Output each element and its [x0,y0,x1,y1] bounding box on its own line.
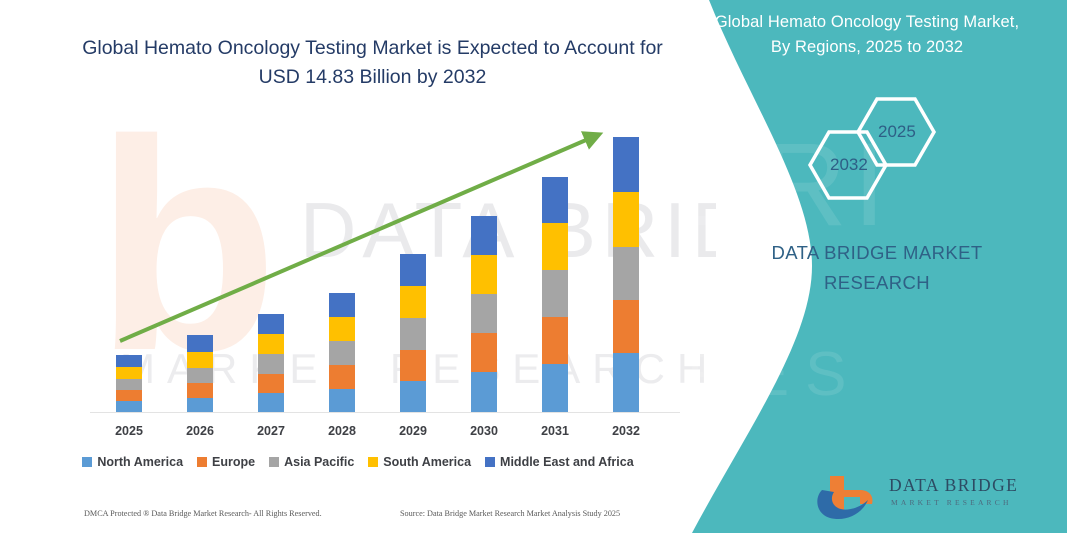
brand-panel-content: Global Hemato Oncology Testing Market, B… [687,0,1067,533]
brand-name: DATA BRIDGE MARKET RESEARCH [717,238,1037,298]
brand-name-line-2: RESEARCH [717,268,1037,298]
hex-label-2032: 2032 [830,155,868,175]
hexagon-badges: 2025 2032 [782,95,972,205]
dbmr-logo-name: DATA BRIDGE [889,475,1018,496]
legend-item[interactable]: Middle East and Africa [485,455,634,469]
brand-name-line-1: DATA BRIDGE MARKET [717,238,1037,268]
legend-label: Asia Pacific [284,455,354,469]
x-axis-labels: 20252026202720282029203020312032 [0,424,716,444]
x-axis-label-2027: 2027 [241,424,301,438]
footer: DMCA Protected ® Data Bridge Market Rese… [0,505,716,525]
x-axis-line [90,412,680,413]
panel-title: Global Hemato Oncology Testing Market, B… [712,10,1022,60]
x-axis-label-2030: 2030 [454,424,514,438]
dbmr-logo: DATA BRIDGE MARKET RESEARCH [812,470,1042,525]
legend-item[interactable]: North America [82,455,183,469]
legend-item[interactable]: Europe [197,455,255,469]
x-axis-label-2026: 2026 [170,424,230,438]
legend-label: South America [383,455,471,469]
chart-legend: North AmericaEuropeAsia PacificSouth Ame… [0,455,716,469]
x-axis-label-2029: 2029 [383,424,443,438]
legend-swatch-icon [269,457,279,467]
legend-swatch-icon [485,457,495,467]
legend-label: Middle East and Africa [500,455,634,469]
hex-label-2025: 2025 [878,122,916,142]
x-axis-label-2028: 2028 [312,424,372,438]
x-axis-label-2031: 2031 [525,424,585,438]
legend-item[interactable]: South America [368,455,471,469]
infographic-root: b DATA BRIDGE MARKET RESEARCH Global Hem… [0,0,1067,533]
footer-copyright: DMCA Protected ® Data Bridge Market Rese… [84,509,322,518]
legend-item[interactable]: Asia Pacific [269,455,354,469]
legend-swatch-icon [82,457,92,467]
legend-label: Europe [212,455,255,469]
dbmr-logo-icon [812,470,887,525]
x-axis-label-2032: 2032 [596,424,656,438]
legend-label: North America [97,455,183,469]
growth-arrow-icon [0,0,716,412]
chart-area: 20252026202720282029203020312032 North A… [0,0,716,533]
dbmr-logo-tagline: MARKET RESEARCH [891,498,1012,507]
legend-swatch-icon [368,457,378,467]
footer-source: Source: Data Bridge Market Research Mark… [400,509,620,518]
legend-swatch-icon [197,457,207,467]
x-axis-label-2025: 2025 [99,424,159,438]
hexagon-icons [782,95,972,205]
